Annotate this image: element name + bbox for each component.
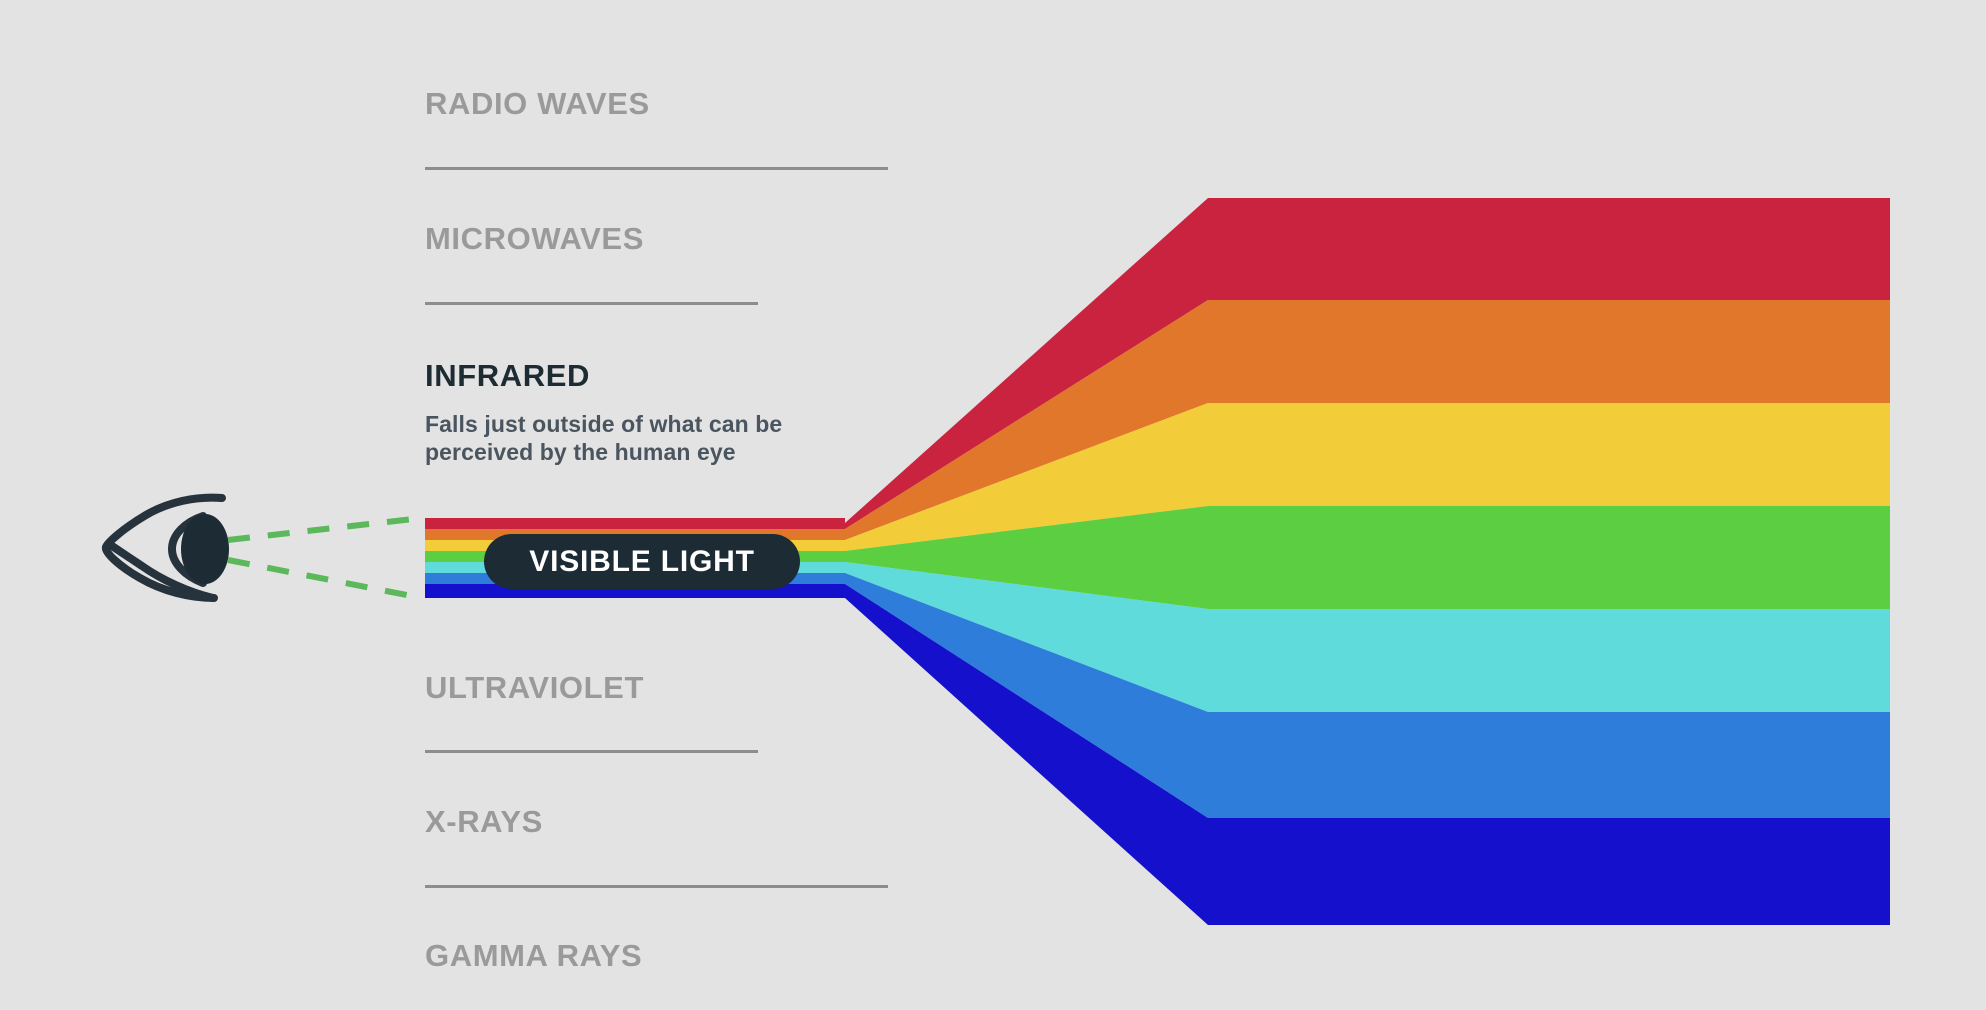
divider-x-rays [425,885,888,888]
divider-microwaves [425,302,758,305]
visible-light-badge: VISIBLE LIGHT [484,534,800,589]
sight-lines [228,518,422,598]
divider-ultraviolet [425,750,758,753]
spectrum-label-ultraviolet: ULTRAVIOLET [425,672,644,703]
spectrum-label-gamma-rays: GAMMA RAYS [425,940,642,971]
electromagnetic-spectrum-diagram: RADIO WAVES MICROWAVES INFRARED Falls ju… [0,0,1986,1010]
spectrum-graphic [0,0,1986,1010]
eye-icon [106,498,229,598]
sight-line-lower [228,560,422,598]
spectrum-label-microwaves: MICROWAVES [425,223,644,254]
spectrum-label-radio-waves: RADIO WAVES [425,88,650,119]
spectrum-label-x-rays: X-RAYS [425,806,543,837]
visible-light-badge-label: VISIBLE LIGHT [529,547,754,577]
spectrum-label-infrared: INFRARED [425,360,590,391]
sight-line-upper [228,518,422,540]
spectrum-description-infrared: Falls just outside of what can be percei… [425,410,782,466]
divider-radio-waves [425,167,888,170]
